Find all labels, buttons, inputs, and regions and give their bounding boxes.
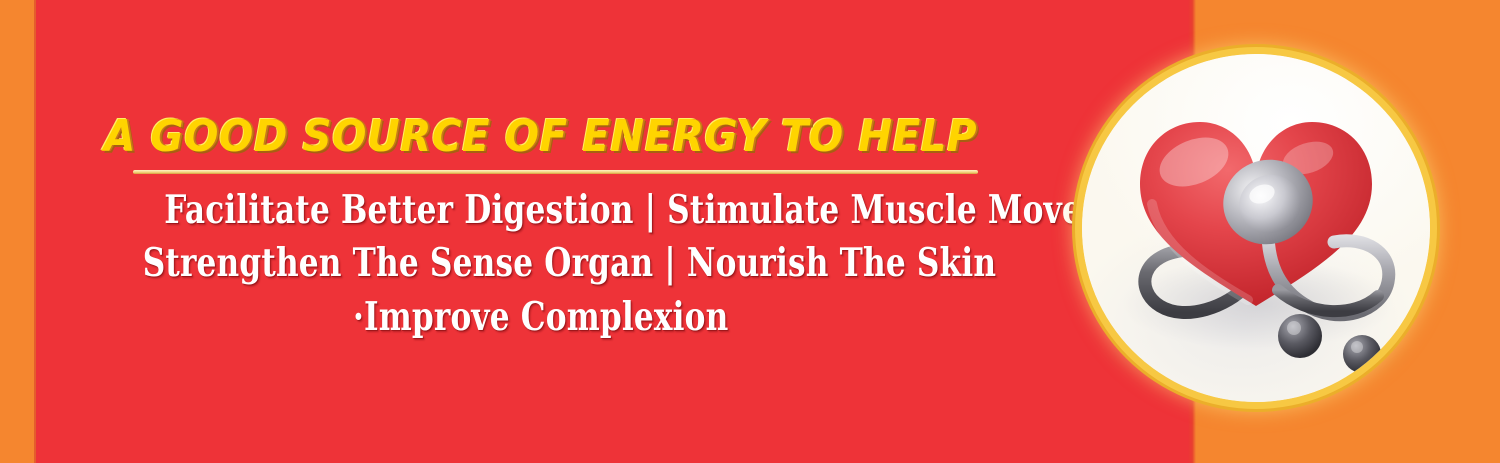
earpiece-left-highlight [1287, 321, 1301, 335]
heart-stethoscope-illustration [1082, 54, 1430, 402]
headline-wrap: A GOOD SOURCE OF ENERGY TO HELP [36, 112, 1046, 162]
benefit-line: Strengthen The Sense Organ | Nourish The… [36, 236, 1046, 290]
benefit-line-text: Strengthen The Sense Organ | Nourish The… [143, 236, 997, 290]
benefit-list: Facilitate Better Digestion | Stimulate … [36, 184, 1046, 344]
benefit-line: Facilitate Better Digestion | Stimulate … [36, 184, 1046, 236]
headline-underline [133, 170, 978, 174]
benefit-line-text: ·Improve Complexion [353, 290, 729, 344]
health-benefits-banner: A GOOD SOURCE OF ENERGY TO HELP Facilita… [0, 0, 1500, 463]
left-orange-stripe [0, 0, 36, 463]
benefit-line-text: Facilitate Better Digestion | Stimulate … [164, 184, 1190, 236]
stethoscope-earpiece-left [1278, 314, 1322, 358]
stethoscope-earpiece-right [1343, 335, 1381, 373]
earpiece-right-highlight [1351, 341, 1363, 353]
heart-stethoscope-badge [1082, 54, 1430, 402]
banner-text-block: A GOOD SOURCE OF ENERGY TO HELP Facilita… [36, 0, 1194, 463]
banner-headline: A GOOD SOURCE OF ENERGY TO HELP [104, 112, 977, 162]
benefit-line: ·Improve Complexion [36, 290, 1046, 344]
